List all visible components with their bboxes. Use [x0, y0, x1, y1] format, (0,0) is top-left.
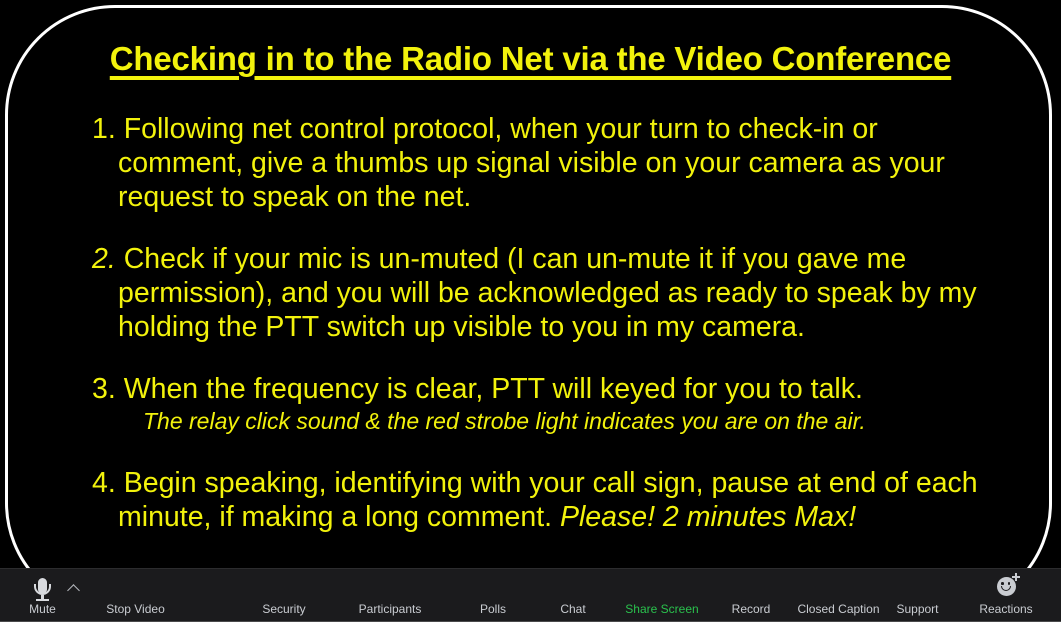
slide-title: Checking in to the Radio Net via the Vid… — [0, 40, 1061, 78]
bullet-1-number: 1. — [92, 113, 116, 145]
toolbar-label-participants: Participants — [335, 602, 445, 616]
slide-body: 1. Following net control protocol, when … — [92, 112, 992, 534]
smiley-plus-icon — [963, 572, 1049, 600]
toolbar-label-stop-video: Stop Video — [85, 602, 186, 616]
toolbar-label-polls: Polls — [450, 602, 536, 616]
toolbar-item-participants[interactable]: Participants — [335, 569, 445, 622]
toolbar-label-share-screen: Share Screen — [608, 602, 716, 616]
slide-bullet-4: 4. Begin speaking, identifying with your… — [92, 466, 992, 534]
bullet-2-number: 2. — [92, 243, 116, 275]
toolbar-label-support: Support — [880, 602, 955, 616]
toolbar-item-record[interactable]: Record — [712, 569, 790, 622]
zoom-meeting-toolbar: Mute Stop Video Security Participants Po… — [0, 568, 1061, 622]
toolbar-label-mute: Mute — [4, 602, 81, 616]
toolbar-label-record: Record — [712, 602, 790, 616]
bullet-4-number: 4. — [92, 467, 116, 499]
slide-bullet-3: 3. When the frequency is clear, PTT will… — [92, 372, 992, 406]
bullet-1-text: Following net control protocol, when you… — [118, 113, 945, 213]
toolbar-label-security: Security — [236, 602, 332, 616]
toolbar-item-stop-video[interactable]: Stop Video — [85, 569, 186, 622]
bullet-4-emphasis: Please! 2 minutes Max! — [560, 501, 856, 533]
bullet-3-text: When the frequency is clear, PTT will ke… — [124, 373, 863, 405]
slide-bullet-2: 2. Check if your mic is un-muted (I can … — [92, 242, 992, 344]
toolbar-item-reactions[interactable]: Reactions — [963, 569, 1049, 622]
toolbar-item-chat[interactable]: Chat — [535, 569, 611, 622]
toolbar-label-closed-caption: Closed Caption — [786, 602, 891, 616]
slide-bullet-1: 1. Following net control protocol, when … — [92, 112, 992, 214]
toolbar-item-polls[interactable]: Polls — [450, 569, 536, 622]
toolbar-label-reactions: Reactions — [963, 602, 1049, 616]
toolbar-item-closed-caption[interactable]: Closed Caption — [786, 569, 891, 622]
toolbar-item-support[interactable]: Support — [880, 569, 955, 622]
toolbar-label-chat: Chat — [535, 602, 611, 616]
toolbar-item-share-screen[interactable]: Share Screen — [608, 569, 716, 622]
bullet-3-number: 3. — [92, 373, 116, 405]
toolbar-item-security[interactable]: Security — [236, 569, 332, 622]
bullet-2-text: Check if your mic is un-muted (I can un-… — [118, 243, 977, 343]
mute-options-chevron-up-icon[interactable] — [66, 582, 82, 596]
shared-slide: Checking in to the Radio Net via the Vid… — [0, 0, 1061, 568]
slide-bullet-3-subline: The relay click sound & the red strobe l… — [92, 406, 992, 436]
zoom-meeting-screen: Checking in to the Radio Net via the Vid… — [0, 0, 1061, 622]
